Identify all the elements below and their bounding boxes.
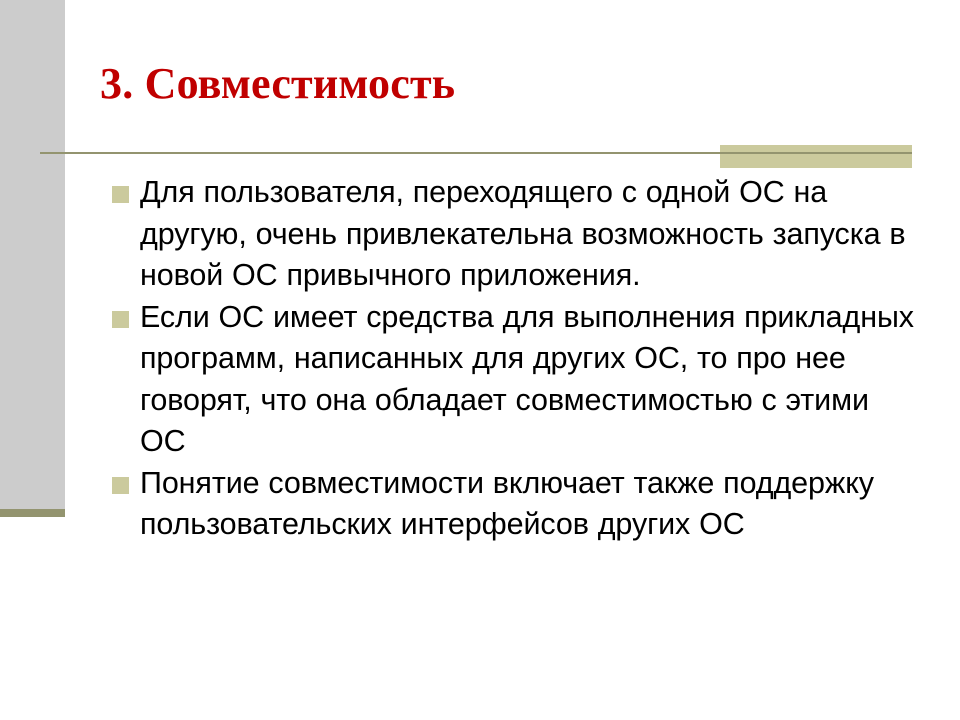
left-decorative-band [0, 0, 65, 509]
list-item-text: Для пользователя, переходящего с одной О… [140, 175, 905, 292]
slide-title: 3. Совместимость [100, 58, 900, 110]
list-item-text: Если ОС имеет средства для выполнения пр… [140, 300, 914, 459]
presentation-slide: 3. Совместимость Для пользователя, перех… [0, 0, 960, 720]
slide-body: Для пользователя, переходящего с одной О… [108, 172, 920, 546]
list-item: Понятие совместимости включает также под… [108, 463, 920, 546]
list-item: Если ОС имеет средства для выполнения пр… [108, 297, 920, 463]
header-accent-block [720, 145, 912, 168]
square-bullet-icon [112, 311, 129, 328]
list-item: Для пользователя, переходящего с одной О… [108, 172, 920, 297]
square-bullet-icon [112, 186, 129, 203]
square-bullet-icon [112, 477, 129, 494]
list-item-text: Понятие совместимости включает также под… [140, 466, 874, 542]
left-band-footer-accent [0, 509, 65, 517]
header-divider-rule [40, 152, 912, 154]
